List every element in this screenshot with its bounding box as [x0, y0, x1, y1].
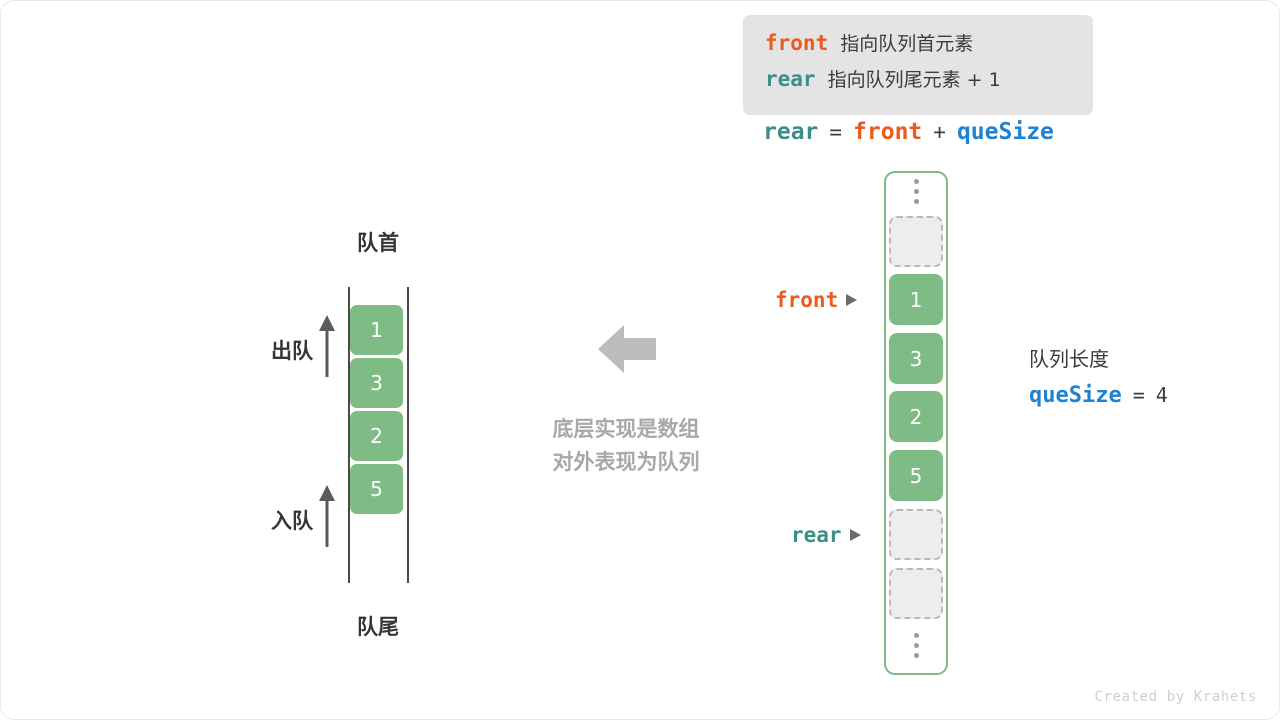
queue-element: 5 [350, 464, 403, 514]
rear-equation: rear = front + queSize [763, 119, 1054, 145]
rear-pointer-label: rear [791, 523, 842, 547]
array-top-ellipsis-icon [889, 179, 943, 204]
center-caption-line1: 底层实现是数组 [529, 413, 723, 446]
dequeue-arrow-icon [317, 315, 337, 382]
front-description: 指向队列首元素 [840, 29, 973, 56]
array-cell-filled: 1 [889, 274, 943, 325]
array-cell-empty [889, 216, 943, 267]
queue-element: 2 [350, 411, 403, 461]
center-caption: 底层实现是数组 对外表现为队列 [529, 413, 723, 479]
dequeue-label: 出队 [253, 335, 313, 365]
front-pointer: front [775, 288, 857, 312]
pointer-definition-box: front 指向队列首元素 rear 指向队列尾元素 + 1 [743, 15, 1093, 115]
array-bottom-ellipsis-icon [889, 633, 943, 658]
left-arrow-icon [598, 323, 656, 380]
enqueue-arrow-icon [317, 485, 337, 552]
rear-keyword: rear [765, 67, 816, 91]
center-caption-line2: 对外表现为队列 [529, 446, 723, 479]
queue-element: 1 [350, 305, 403, 355]
quesize-value: 4 [1156, 383, 1168, 407]
rear-pointer-arrow-icon [850, 529, 861, 541]
queue-element: 3 [350, 358, 403, 408]
array-cell-filled: 5 [889, 450, 943, 501]
enqueue-text: 入队 [253, 505, 313, 535]
equation-plus: + [933, 120, 946, 144]
dequeue-text: 出队 [253, 335, 313, 365]
quesize-annotation: 队列长度 queSize = 4 [1029, 343, 1168, 408]
rear-description: 指向队列尾元素 + 1 [828, 65, 1001, 92]
info-line-rear: rear 指向队列尾元素 + 1 [765, 65, 1071, 101]
enqueue-label: 入队 [253, 505, 313, 535]
diagram-canvas: front 指向队列首元素 rear 指向队列尾元素 + 1 rear = fr… [0, 0, 1280, 720]
equation-front: front [853, 119, 922, 145]
equation-equals: = [829, 120, 842, 144]
front-keyword: front [765, 31, 828, 55]
equation-quesize: queSize [957, 119, 1054, 145]
equation-rear: rear [763, 119, 818, 145]
front-pointer-label: front [775, 288, 838, 312]
info-line-front: front 指向队列首元素 [765, 29, 1071, 65]
quesize-caption: 队列长度 [1029, 343, 1168, 372]
quesize-equals: = [1133, 383, 1145, 407]
queue-head-label: 队首 [346, 227, 410, 257]
array-cell-empty [889, 509, 943, 560]
front-pointer-arrow-icon [846, 294, 857, 306]
array-cell-filled: 2 [889, 391, 943, 442]
array-cell-empty [889, 568, 943, 619]
queue-rail-right [407, 287, 409, 583]
array-cell-filled: 3 [889, 333, 943, 384]
rear-pointer: rear [791, 523, 861, 547]
credit-text: Created by Krahets [1094, 689, 1257, 705]
quesize-name: queSize [1029, 383, 1122, 408]
queue-tail-label: 队尾 [346, 611, 410, 641]
